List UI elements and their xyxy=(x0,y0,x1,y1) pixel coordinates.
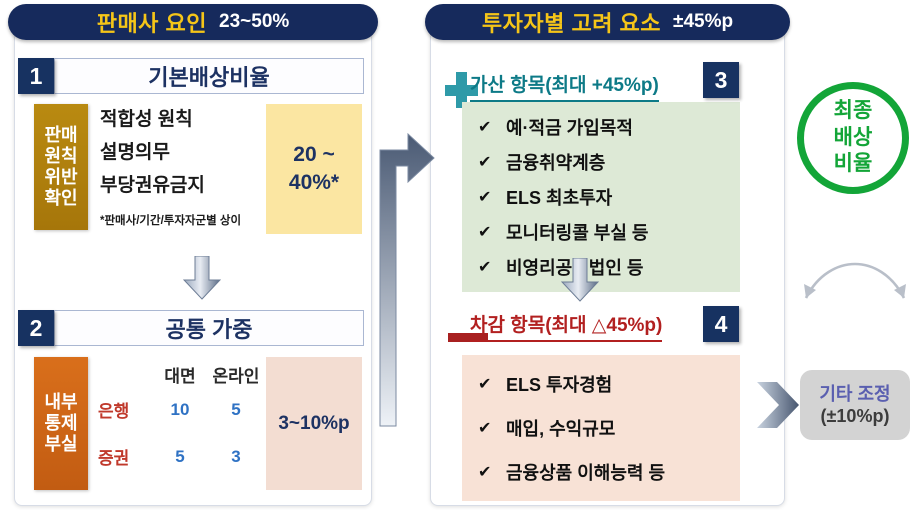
basic-ratio-value: 20 ~ 40%* xyxy=(266,104,362,234)
curved-double-arrow-icon xyxy=(800,258,910,309)
badge-step-3: 3 xyxy=(703,62,739,98)
list-item: ✔ ELS 투자경험 xyxy=(478,371,730,397)
badge-step-2: 2 xyxy=(18,310,54,346)
check-icon: ✔ xyxy=(478,418,506,438)
other-adjustment-box: 기타 조정 (±10%p) xyxy=(800,370,910,440)
row-category: 증권 xyxy=(98,444,152,469)
banner-investor-factors: 투자자별 고려 요소 ±45%p xyxy=(425,4,790,40)
common-weight-table: 대면 온라인 은행 10 5 ▲ 증권 5 3 ▲ xyxy=(98,362,288,491)
check-icon: ✔ xyxy=(478,222,506,242)
banner-left-title: 판매사 요인 xyxy=(97,6,207,38)
cell-online: 5 xyxy=(208,400,264,420)
table-row: 증권 5 3 ▲ xyxy=(98,444,288,469)
list-item: ✔ 모니터링콜 부실 등 xyxy=(478,219,730,245)
principle-item: 부당권유금지 xyxy=(100,176,205,195)
vertical-label-internal-control-failure: 내부 통제 부실 xyxy=(34,357,88,490)
principle-item: 설명의무 xyxy=(100,143,205,162)
deduction-items-list: ✔ ELS 투자경험 ✔ 매입, 수익규모 ✔ 금융상품 이해능력 등 xyxy=(462,355,740,501)
column-header-offline: 대면 xyxy=(152,362,208,387)
check-icon: ✔ xyxy=(478,117,506,137)
bent-arrow-right-icon xyxy=(368,128,438,433)
vertical-label-sales-principle-violation: 판매 원칙 위반 확인 xyxy=(34,104,88,230)
list-item: ✔ 매입, 수익규모 xyxy=(478,415,730,441)
table-header-row: 대면 온라인 xyxy=(98,362,288,387)
table-row: 은행 10 5 ▲ xyxy=(98,397,288,422)
banner-right-value: ±45%p xyxy=(673,11,733,33)
badge-step-1: 1 xyxy=(18,58,54,94)
check-icon: ✔ xyxy=(478,257,506,277)
basic-ratio-footnote: *판매사/기간/투자자군별 상이 xyxy=(100,212,241,228)
addition-items-list: ✔ 예·적금 가입목적 ✔ 금융취약계층 ✔ ELS 최초투자 ✔ 모니터링콜 … xyxy=(462,102,740,292)
common-weight-value: 3~10%p xyxy=(266,357,362,490)
subsection-title-additions: 가산 항목(최대 +45%p) xyxy=(470,70,659,102)
down-arrow-icon xyxy=(561,258,599,302)
cell-offline: 10 xyxy=(152,400,208,420)
subsection-title-deductions: 차감 항목(최대 △45%p) xyxy=(470,310,662,342)
list-item: ✔ 금융상품 이해능력 등 xyxy=(478,459,730,485)
list-item: ✔ ELS 최초투자 xyxy=(478,184,730,210)
banner-left-value: 23~50% xyxy=(219,11,289,33)
check-icon: ✔ xyxy=(478,374,506,394)
check-icon: ✔ xyxy=(478,187,506,207)
cell-offline: 5 xyxy=(152,447,208,467)
cell-online: 3 xyxy=(208,447,264,467)
list-item: ✔ 비영리공익법인 등 xyxy=(478,254,730,280)
check-icon: ✔ xyxy=(478,462,506,482)
row-category: 은행 xyxy=(98,397,152,422)
badge-step-4: 4 xyxy=(703,306,739,342)
banner-seller-factors: 판매사 요인 23~50% xyxy=(8,4,378,40)
principle-item: 적합성 원칙 xyxy=(100,110,205,129)
check-icon: ✔ xyxy=(478,152,506,172)
principle-list: 적합성 원칙 설명의무 부당권유금지 xyxy=(100,110,205,209)
section-title-basic-ratio: 기본배상비율 xyxy=(54,58,364,94)
list-item: ✔ 예·적금 가입목적 xyxy=(478,114,730,140)
list-item: ✔ 금융취약계층 xyxy=(478,149,730,175)
column-header-online: 온라인 xyxy=(208,362,264,387)
section-title-common-weight: 공통 가중 xyxy=(54,310,364,346)
banner-right-title: 투자자별 고려 요소 xyxy=(482,6,661,38)
down-arrow-icon xyxy=(183,256,221,300)
chevron-arrow-right-icon xyxy=(757,378,801,437)
final-compensation-ratio-circle: 최종 배상 비율 xyxy=(797,82,909,194)
diagram-root: 판매사 요인 23~50% 투자자별 고려 요소 ±45%p 1 기본배상비율 … xyxy=(0,0,918,510)
